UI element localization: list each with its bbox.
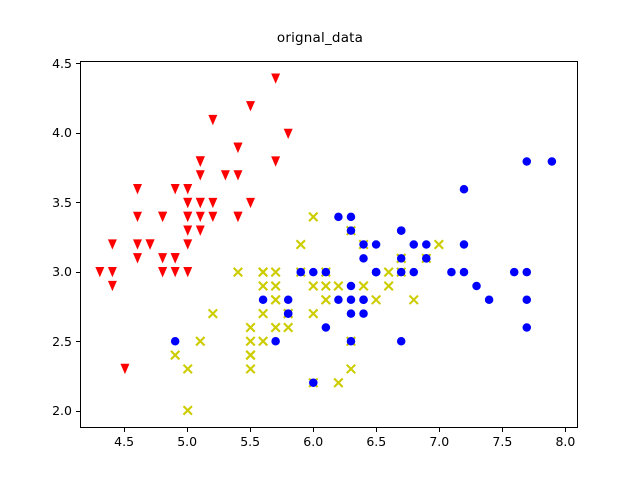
y-tick-label: 4.0 — [22, 125, 72, 140]
data-point — [359, 254, 368, 263]
y-tick-mark — [76, 133, 80, 134]
data-point — [133, 184, 142, 194]
x-tick-mark — [313, 428, 314, 432]
data-point — [309, 379, 318, 388]
data-point — [284, 129, 293, 139]
scatter-markers-layer — [81, 62, 577, 427]
y-tick-mark — [76, 63, 80, 64]
data-point — [158, 212, 167, 222]
data-point — [296, 268, 305, 277]
series-cluster-red — [95, 73, 292, 374]
data-point — [359, 296, 368, 305]
data-point — [347, 337, 356, 346]
x-tick-label: 6.5 — [346, 434, 406, 449]
data-point — [334, 379, 343, 388]
data-point — [108, 239, 117, 249]
data-point — [133, 253, 142, 263]
data-point — [233, 143, 242, 153]
x-tick-label: 7.5 — [472, 434, 532, 449]
data-point — [322, 296, 331, 305]
x-tick-label: 7.0 — [409, 434, 469, 449]
data-point — [397, 226, 406, 235]
x-tick-mark — [565, 428, 566, 432]
data-point — [384, 282, 393, 291]
data-point — [271, 323, 280, 332]
data-point — [246, 198, 255, 208]
data-point — [171, 184, 180, 194]
data-point — [523, 323, 532, 332]
data-point — [183, 226, 192, 236]
data-point — [208, 198, 217, 208]
data-point — [309, 213, 318, 222]
data-point — [372, 296, 381, 305]
x-tick-label: 6.0 — [283, 434, 343, 449]
y-tick-label: 4.5 — [22, 56, 72, 71]
data-point — [359, 309, 368, 318]
data-point — [347, 282, 356, 291]
data-point — [259, 296, 268, 305]
x-tick-mark — [124, 428, 125, 432]
data-point — [460, 185, 469, 194]
data-point — [221, 170, 230, 180]
data-point — [196, 226, 205, 236]
data-point — [359, 282, 368, 291]
data-point — [410, 268, 419, 277]
data-point — [460, 268, 469, 277]
data-point — [259, 268, 268, 277]
data-point — [322, 268, 331, 277]
data-point — [233, 170, 242, 180]
data-point — [347, 213, 356, 222]
data-point — [397, 268, 406, 277]
data-point — [384, 268, 393, 277]
data-point — [271, 296, 280, 305]
data-point — [271, 73, 280, 83]
data-point — [259, 282, 268, 291]
matplotlib-figure: orignal_data 4.55.05.56.06.57.07.58.02.0… — [0, 0, 640, 480]
data-point — [347, 309, 356, 318]
data-point — [460, 240, 469, 249]
data-point — [334, 213, 343, 222]
data-point — [485, 296, 494, 305]
data-point — [271, 282, 280, 291]
data-point — [548, 157, 557, 166]
data-point — [334, 282, 343, 291]
data-point — [196, 170, 205, 180]
data-point — [146, 239, 155, 249]
series-cluster-yellow — [171, 213, 443, 415]
data-point — [246, 101, 255, 111]
x-tick-mark — [439, 428, 440, 432]
data-point — [246, 351, 255, 360]
data-point — [422, 254, 431, 263]
data-point — [422, 240, 431, 249]
data-point — [372, 268, 381, 277]
data-point — [372, 240, 381, 249]
data-point — [234, 268, 243, 277]
data-point — [271, 268, 280, 277]
page-title: orignal_data — [0, 30, 640, 46]
data-point — [158, 253, 167, 263]
data-point — [183, 365, 192, 374]
data-point — [183, 406, 192, 415]
data-point — [334, 296, 343, 305]
data-point — [523, 268, 532, 277]
data-point — [271, 156, 280, 166]
data-point — [171, 267, 180, 277]
data-point — [447, 268, 456, 277]
data-point — [309, 282, 318, 291]
data-point — [208, 212, 217, 222]
data-point — [95, 267, 104, 277]
data-point — [171, 253, 180, 263]
data-point — [322, 282, 331, 291]
x-tick-mark — [250, 428, 251, 432]
data-point — [183, 198, 192, 208]
data-point — [347, 365, 356, 374]
data-point — [296, 240, 305, 249]
series-cluster-blue — [171, 157, 556, 387]
data-point — [120, 364, 129, 374]
y-tick-label: 3.5 — [22, 195, 72, 210]
y-tick-mark — [76, 272, 80, 273]
data-point — [196, 156, 205, 166]
data-point — [410, 296, 419, 305]
data-point — [246, 365, 255, 374]
data-point — [108, 281, 117, 291]
data-point — [410, 240, 419, 249]
data-point — [435, 240, 444, 249]
data-point — [309, 309, 318, 318]
data-point — [183, 212, 192, 222]
data-point — [183, 184, 192, 194]
data-point — [322, 323, 331, 332]
data-point — [196, 198, 205, 208]
data-point — [472, 282, 481, 291]
data-point — [284, 309, 293, 318]
data-point — [359, 240, 368, 249]
data-point — [108, 267, 117, 277]
data-point — [196, 337, 205, 346]
data-point — [523, 296, 532, 305]
data-point — [233, 212, 242, 222]
data-point — [259, 337, 268, 346]
data-point — [284, 323, 293, 332]
data-point — [309, 268, 318, 277]
data-point — [158, 267, 167, 277]
data-point — [271, 337, 280, 346]
data-point — [246, 323, 255, 332]
x-tick-mark — [502, 428, 503, 432]
y-tick-mark — [76, 341, 80, 342]
y-tick-mark — [76, 202, 80, 203]
x-tick-label: 4.5 — [94, 434, 154, 449]
data-point — [133, 239, 142, 249]
x-tick-mark — [187, 428, 188, 432]
data-point — [133, 212, 142, 222]
y-tick-label: 2.5 — [22, 334, 72, 349]
data-point — [196, 212, 205, 222]
x-tick-label: 5.5 — [220, 434, 280, 449]
data-point — [209, 309, 218, 318]
y-tick-mark — [76, 411, 80, 412]
data-point — [183, 267, 192, 277]
y-tick-label: 3.0 — [22, 264, 72, 279]
x-tick-mark — [376, 428, 377, 432]
plot-area — [80, 61, 578, 428]
data-point — [208, 115, 217, 125]
data-point — [347, 226, 356, 235]
x-tick-label: 5.0 — [157, 434, 217, 449]
data-point — [246, 337, 255, 346]
data-point — [397, 337, 406, 346]
data-point — [397, 254, 406, 263]
data-point — [523, 157, 532, 166]
data-point — [347, 296, 356, 305]
data-point — [510, 268, 519, 277]
data-point — [171, 351, 180, 360]
data-point — [284, 296, 293, 305]
data-point — [171, 337, 180, 346]
y-tick-label: 2.0 — [22, 403, 72, 418]
data-point — [259, 309, 268, 318]
x-tick-label: 8.0 — [535, 434, 595, 449]
data-point — [183, 239, 192, 249]
